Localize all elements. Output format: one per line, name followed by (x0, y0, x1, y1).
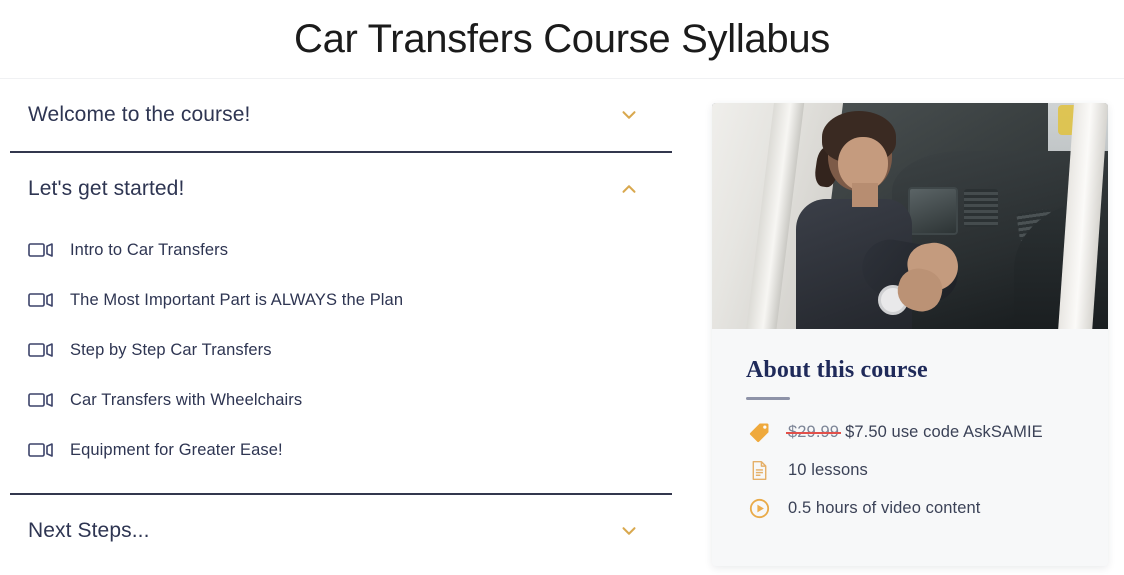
chevron-down-icon[interactable] (618, 104, 640, 126)
section-title: Let's get started! (28, 177, 184, 201)
chevron-up-icon[interactable] (618, 178, 640, 200)
lesson-item[interactable]: Step by Step Car Transfers (28, 325, 672, 375)
lesson-title: Intro to Car Transfers (70, 241, 228, 260)
meta-row-price: $29.99$7.50 use code AskSAMIE (746, 422, 1078, 443)
page-body: Welcome to the course! Let's get started… (0, 79, 1124, 567)
course-card-body: About this course $29.99$7.50 use code A… (712, 329, 1108, 566)
play-circle-icon (746, 498, 772, 519)
video-icon (28, 340, 54, 360)
lesson-title: Step by Step Car Transfers (70, 341, 272, 360)
syllabus-section-get-started: Let's get started! Intro to Car Tr (0, 153, 690, 493)
lesson-title: Equipment for Greater Ease! (70, 441, 283, 460)
course-card: About this course $29.99$7.50 use code A… (712, 103, 1108, 566)
section-header-get-started[interactable]: Let's get started! (28, 153, 672, 225)
video-icon (28, 390, 54, 410)
page-title: Car Transfers Course Syllabus (294, 19, 830, 59)
original-price: $29.99 (788, 423, 839, 441)
current-price: $7.50 use code AskSAMIE (845, 423, 1043, 441)
section-title: Welcome to the course! (28, 103, 250, 127)
card-heading: About this course (746, 357, 1078, 384)
thumbnail-person-neck (852, 183, 878, 207)
lesson-item[interactable]: Equipment for Greater Ease! (28, 425, 672, 475)
video-icon (28, 240, 54, 260)
syllabus-section-welcome: Welcome to the course! (0, 79, 690, 151)
video-icon (28, 440, 54, 460)
section-title: Next Steps... (28, 519, 150, 543)
price-text: $29.99$7.50 use code AskSAMIE (788, 423, 1043, 442)
lesson-list: Intro to Car Transfers The Most Importan… (28, 225, 672, 493)
thumbnail-vent (964, 189, 998, 227)
document-icon (746, 460, 772, 481)
lessons-count-text: 10 lessons (788, 461, 868, 480)
course-thumbnail[interactable] (712, 103, 1108, 329)
heading-rule (746, 397, 790, 400)
lesson-item[interactable]: Car Transfers with Wheelchairs (28, 375, 672, 425)
section-header-welcome[interactable]: Welcome to the course! (28, 79, 672, 151)
page-header: Car Transfers Course Syllabus (0, 0, 1124, 79)
lesson-item[interactable]: The Most Important Part is ALWAYS the Pl… (28, 275, 672, 325)
side-column: About this course $29.99$7.50 use code A… (690, 79, 1124, 566)
video-duration-text: 0.5 hours of video content (788, 499, 980, 518)
video-icon (28, 290, 54, 310)
lesson-title: The Most Important Part is ALWAYS the Pl… (70, 291, 403, 310)
meta-row-lessons: 10 lessons (746, 460, 1078, 481)
section-header-next-steps[interactable]: Next Steps... (28, 495, 672, 567)
syllabus-column: Welcome to the course! Let's get started… (0, 79, 690, 567)
meta-row-duration: 0.5 hours of video content (746, 498, 1078, 519)
lesson-item[interactable]: Intro to Car Transfers (28, 225, 672, 275)
thumbnail-infotainment-screen (908, 187, 958, 235)
price-tag-icon (746, 422, 772, 443)
chevron-down-icon[interactable] (618, 520, 640, 542)
lesson-title: Car Transfers with Wheelchairs (70, 391, 302, 410)
syllabus-section-next-steps: Next Steps... (0, 495, 690, 567)
